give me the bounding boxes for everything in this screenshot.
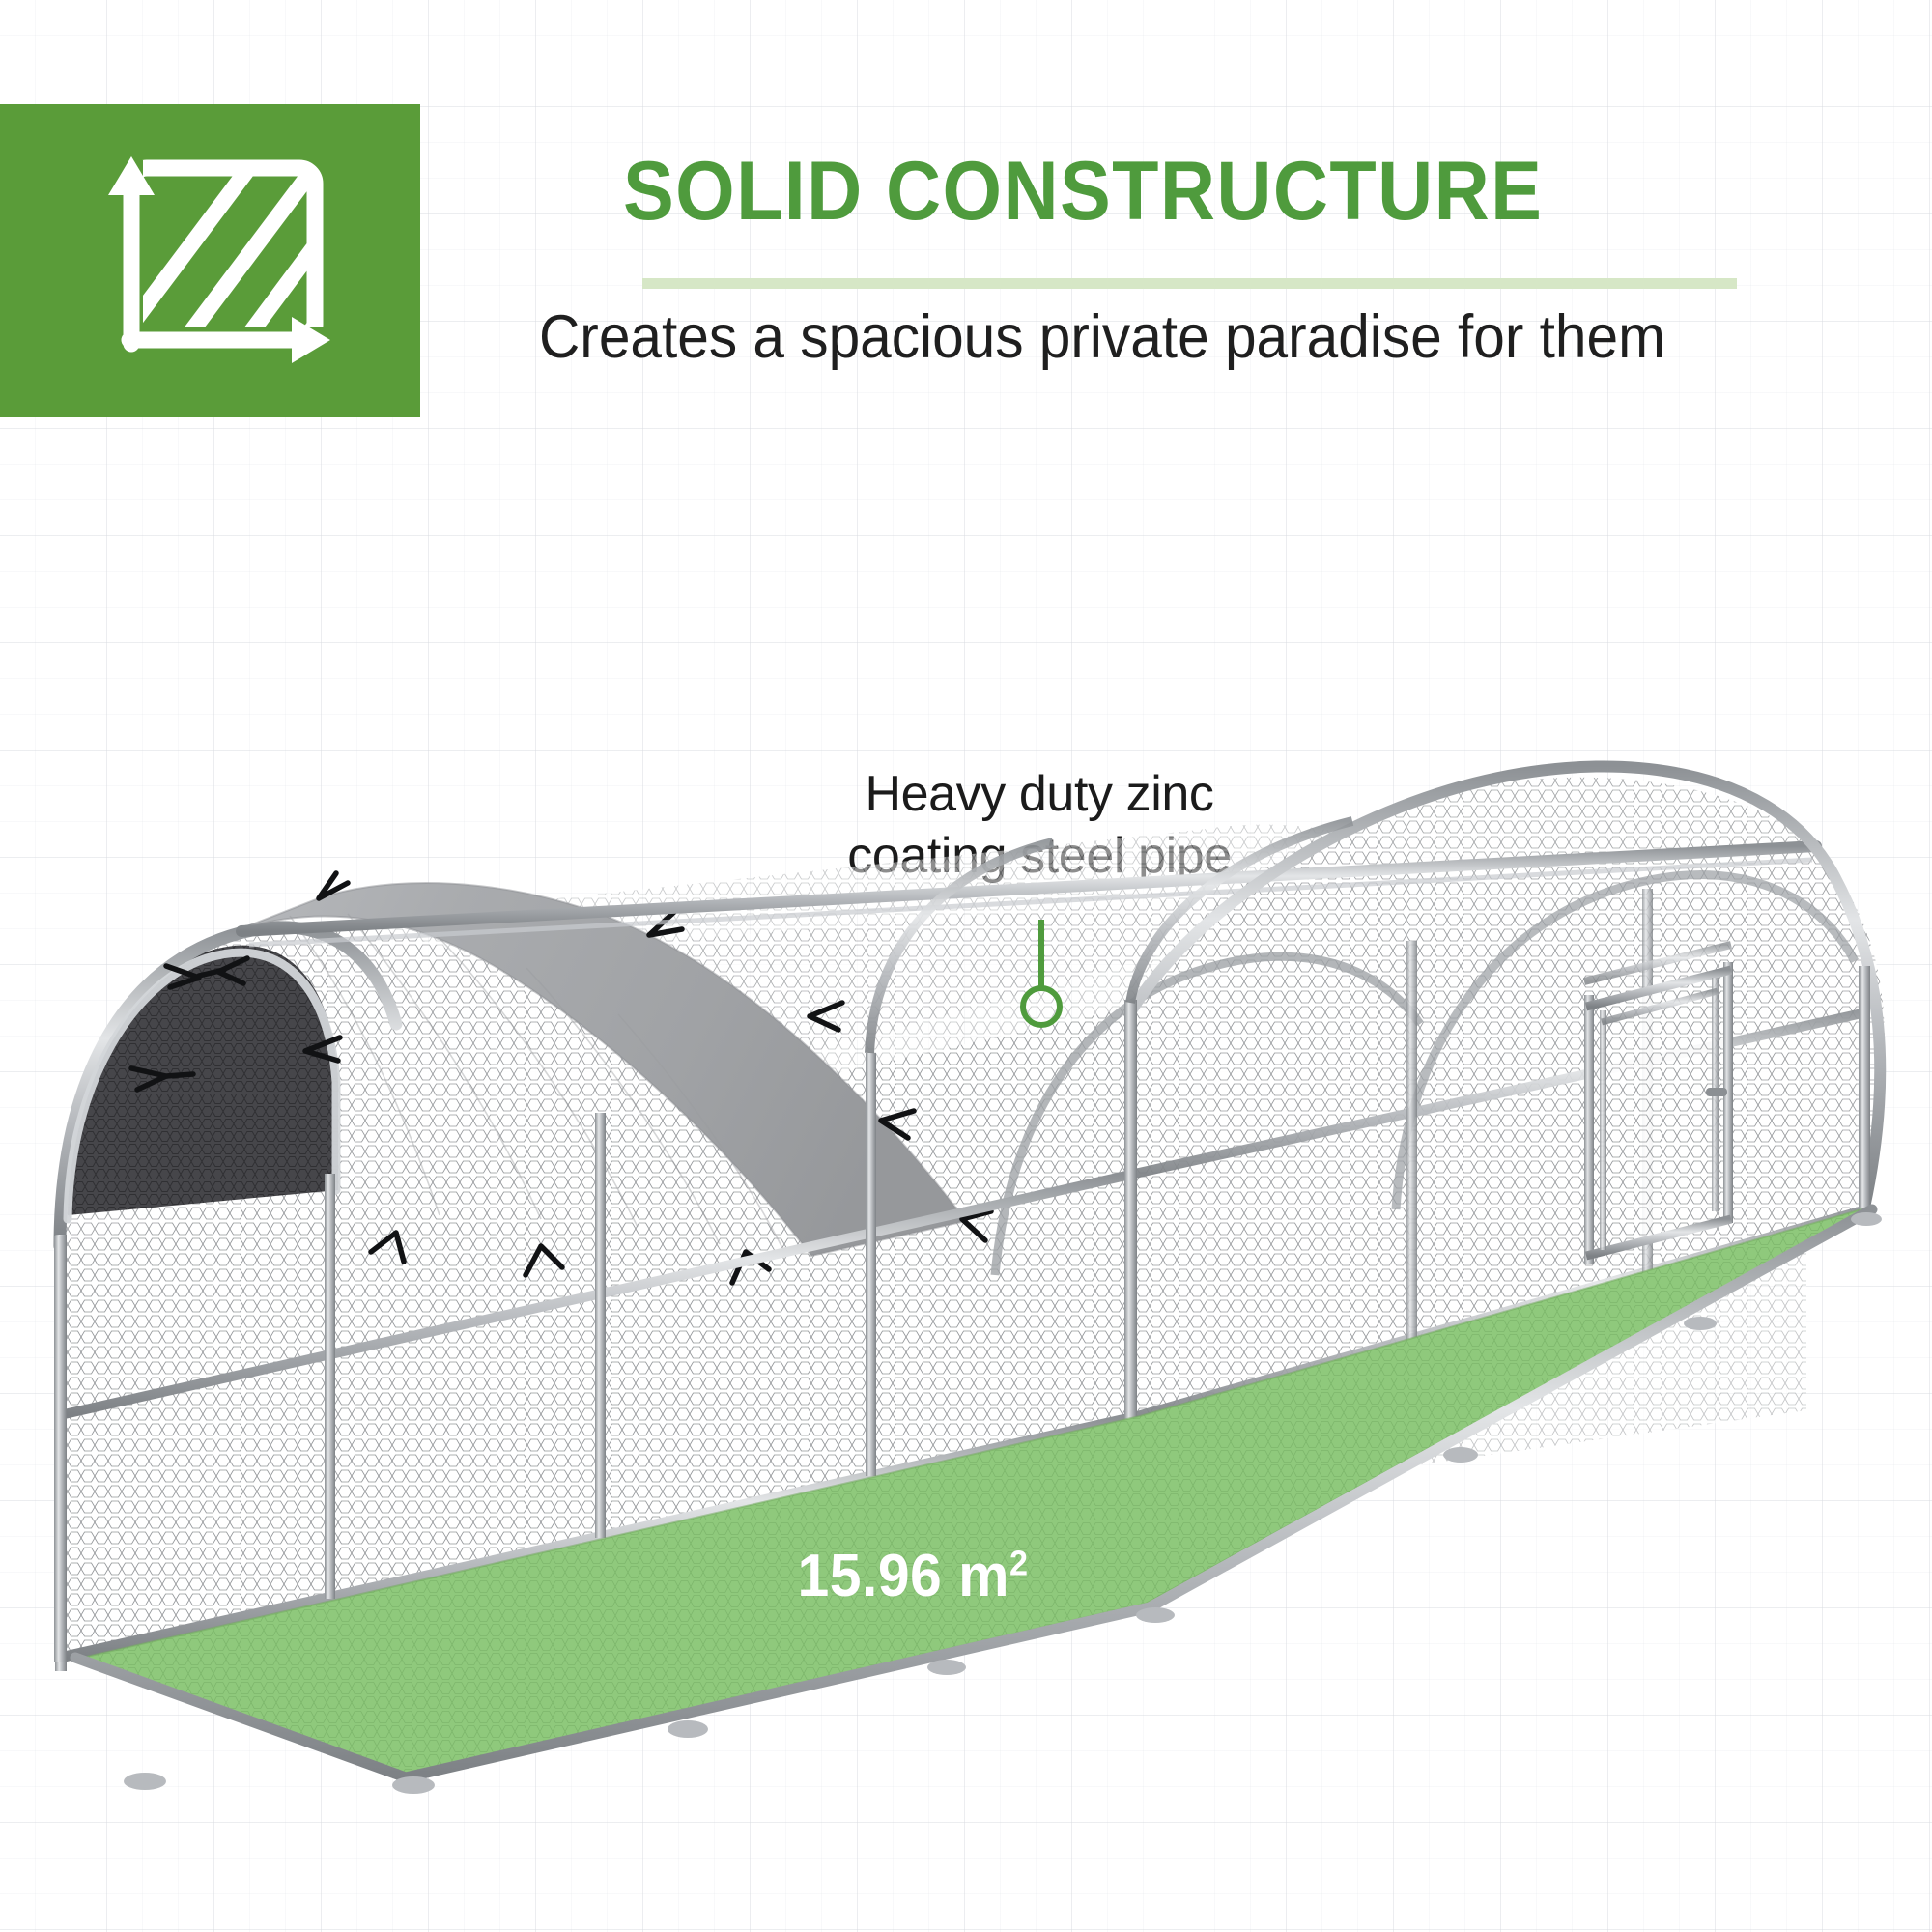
floor-area-label: 15.96 m2 [721,1542,1106,1610]
infographic-canvas: SOLID CONSTRUCTURE Creates a spacious pr… [0,0,1932,1932]
front-end-dark-mesh-panel [68,946,338,1215]
door-latch[interactable] [1706,1088,1727,1096]
front-left-corner-post [54,1236,67,1662]
product-illustration [0,0,1932,1932]
floor-area-value: 15.96 m [798,1543,1009,1609]
floor-area-unit-exponent: 2 [1009,1543,1028,1582]
front-end-lower-mesh [60,1190,328,1660]
